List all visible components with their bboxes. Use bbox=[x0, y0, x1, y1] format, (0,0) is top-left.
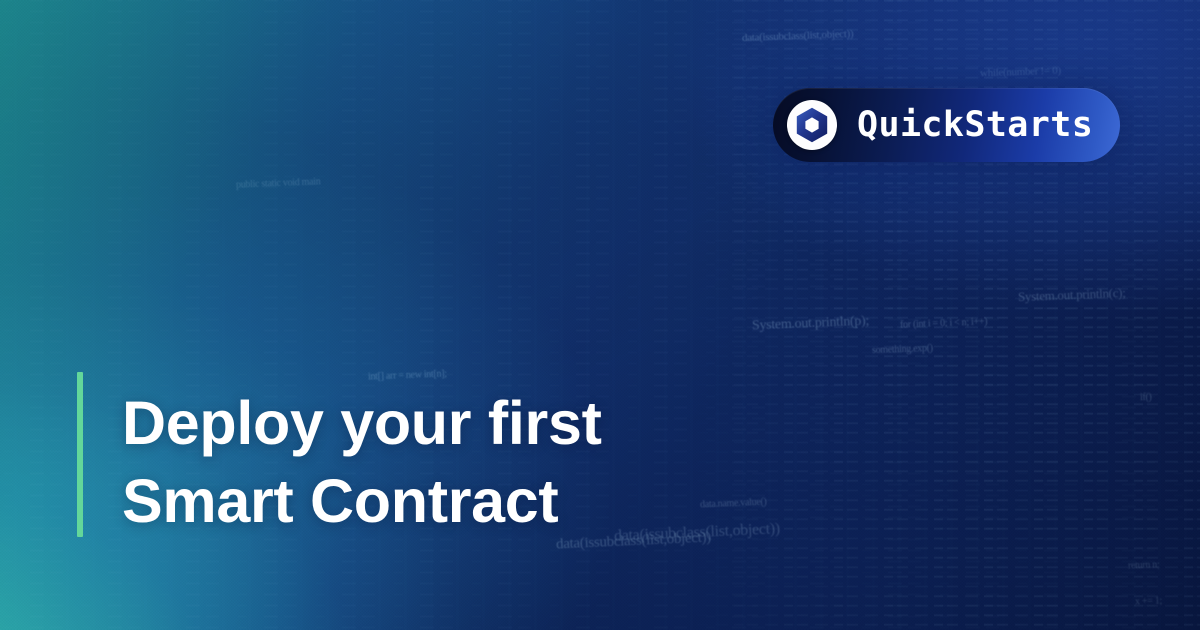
quickstarts-badge[interactable]: QuickStarts bbox=[773, 88, 1120, 162]
chainlink-logo-circle bbox=[787, 100, 837, 150]
headline-line-1: Deploy your first bbox=[122, 384, 742, 462]
quickstarts-banner: data(issubclass(list,object)) while(numb… bbox=[0, 0, 1200, 630]
headline-accent-bar bbox=[77, 372, 83, 537]
chainlink-hexagon-icon bbox=[796, 107, 828, 143]
quickstarts-badge-label: QuickStarts bbox=[857, 108, 1093, 143]
headline-line-2: Smart Contract bbox=[122, 462, 742, 540]
page-title: Deploy your first Smart Contract bbox=[122, 384, 742, 540]
